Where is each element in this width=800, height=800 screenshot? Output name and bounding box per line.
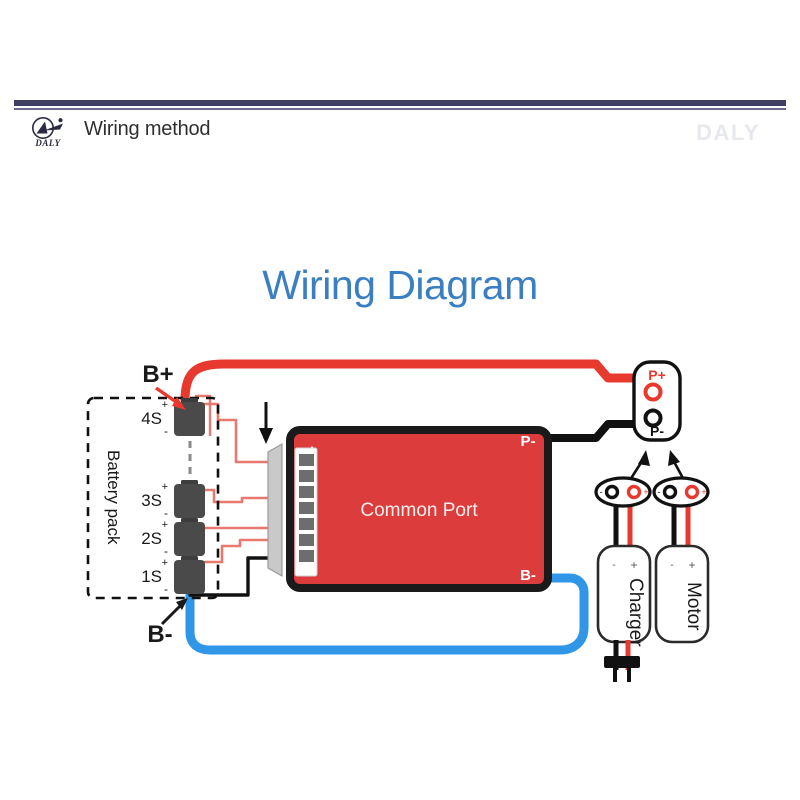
output-terminal-pminus-label: P-: [650, 423, 664, 439]
battery-cell-3s: + - 3S: [141, 480, 205, 520]
page-title: Wiring Diagram: [0, 262, 800, 309]
motor-label: Motor: [683, 582, 704, 631]
two-pin-plug-icon[interactable]: [654, 478, 708, 506]
motor-connector-plus: +: [701, 487, 706, 497]
cell-1s-minus: -: [164, 582, 168, 596]
balance-plug-icon[interactable]: [268, 444, 282, 576]
battery-cell-2s: + - 2S: [141, 518, 205, 558]
motor-connector-minus: -: [658, 487, 661, 497]
header-title: Wiring method: [84, 118, 210, 141]
battery-cell-1s: + - 1S: [141, 556, 205, 596]
motor-connector[interactable]: - +: [654, 478, 708, 506]
charger-connector-plus: +: [643, 487, 648, 497]
balance-connector-socket[interactable]: [295, 448, 317, 576]
motor-body-plus: +: [688, 558, 695, 572]
daly-logo-icon: [30, 117, 66, 139]
charger-body-plus: +: [630, 558, 637, 572]
device-motor[interactable]: - + - + Motor: [654, 478, 708, 642]
insert-arrow-down-icon: [259, 402, 273, 444]
balance-plug[interactable]: [268, 444, 282, 576]
connect-arrow-up-icon: [630, 450, 684, 480]
daly-logo-wordmark: DALY: [28, 138, 68, 148]
two-pin-plug-icon[interactable]: [596, 478, 650, 506]
output-terminal-pplus-label: P+: [648, 367, 666, 383]
cell-2s-minus: -: [164, 544, 168, 558]
charger-label: Charger: [625, 578, 646, 647]
charger-body-minus: -: [612, 560, 615, 571]
charger-connector-minus: -: [600, 487, 603, 497]
bms-battery-negative-label: B-: [520, 567, 536, 584]
motor-body-minus: -: [670, 560, 673, 571]
bms-port-negative-label: P-: [521, 433, 536, 450]
cell-1s-label: 1S: [141, 567, 162, 586]
header-bar-thin: [14, 108, 786, 110]
cell-2s-plus: +: [162, 519, 168, 531]
cell-2s-label: 2S: [141, 529, 162, 548]
cell-3s-plus: +: [162, 481, 168, 493]
wire-board-pminus-to-terminal: [548, 424, 640, 438]
bminus-label: B-: [147, 621, 172, 648]
wire-bplus-to-pplus: [185, 364, 640, 400]
wiring-diagram-svg: Battery pack + - 4S + - 3S: [0, 340, 800, 700]
header-bar-thick: [14, 100, 786, 106]
header-watermark: DALY: [696, 120, 760, 146]
cell-3s-label: 3S: [141, 491, 162, 510]
device-charger[interactable]: - + - + Charger: [596, 478, 650, 682]
daly-logo: DALY: [26, 117, 70, 151]
cell-3s-minus: -: [164, 506, 168, 520]
terminal-label-bminus: B-: [147, 598, 188, 648]
slide-page: DALY Wiring method DALY Wiring Diagram: [0, 0, 800, 800]
bms-board-title: Common Port: [360, 500, 478, 521]
battery-pack-label: Battery pack: [104, 450, 123, 545]
bms-board[interactable]: Common Port + - P- B-: [290, 430, 548, 588]
cell-4s-minus: -: [164, 424, 168, 438]
battery-cell-4s: + - 4S: [141, 398, 205, 438]
charger-connector[interactable]: - +: [596, 478, 650, 506]
cell-4s-label: 4S: [141, 409, 162, 428]
ac-wall-plug-icon: [604, 656, 640, 682]
wiring-diagram: Battery pack + - 4S + - 3S: [0, 340, 800, 700]
cell-4s-plus: +: [162, 399, 168, 411]
cell-1s-plus: +: [162, 557, 168, 569]
bplus-label: B+: [142, 361, 173, 388]
header: DALY Wiring method DALY: [14, 112, 786, 156]
output-terminal-block[interactable]: P+ P-: [634, 362, 680, 440]
